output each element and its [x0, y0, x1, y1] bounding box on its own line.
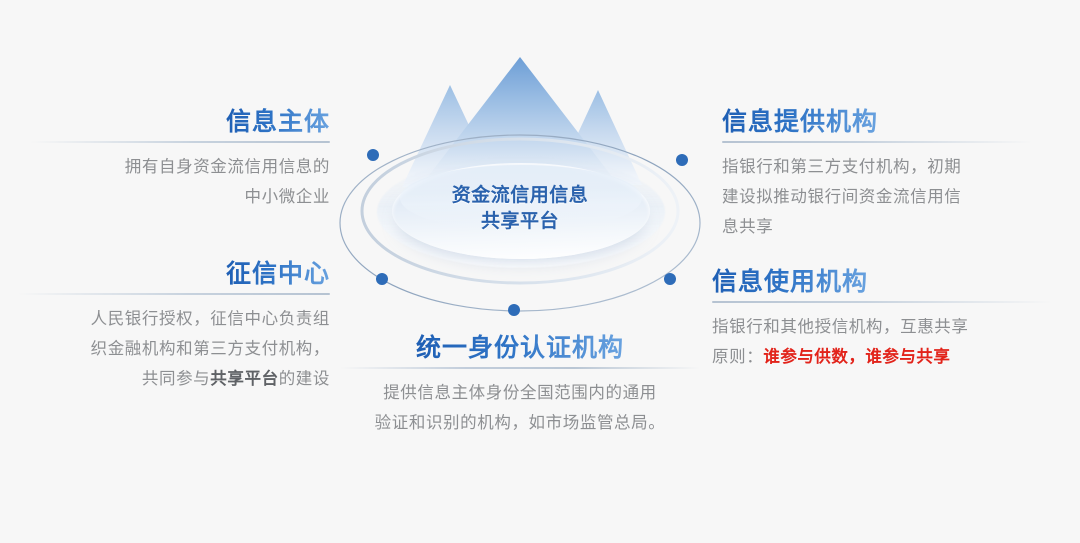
heading-rule	[30, 141, 330, 143]
platform-label-line1: 资金流信用信息	[330, 183, 710, 209]
heading-information-provider: 信息提供机构	[722, 106, 878, 138]
block-information-subject: 信息主体 拥有自身资金流信用信息的 中小微企业	[30, 106, 330, 212]
infographic-canvas: 资金流信用信息 共享平台 信息主体 拥有自身资金流信用信息的 中小微企业 征信中…	[0, 0, 1080, 543]
heading-identity-authentication: 统一身份认证机构	[416, 332, 624, 364]
node-dot	[376, 273, 388, 285]
block-identity-authentication: 统一身份认证机构 提供信息主体身份全国范围内的通用 验证和识别的机构，如市场监管…	[340, 332, 700, 438]
node-dot	[676, 154, 688, 166]
body-line-accent: 谁参与供数，谁参与共享	[763, 347, 950, 366]
body-line: 拥有自身资金流信用信息的	[30, 152, 330, 182]
body-line-emphasis: 共享平台	[210, 369, 278, 388]
block-information-provider: 信息提供机构 指银行和第三方支付机构，初期 建设拟推动银行间资金流信用信 息共享	[722, 106, 1032, 242]
body-information-subject: 拥有自身资金流信用信息的 中小微企业	[30, 152, 330, 212]
body-line: 指银行和其他授信机构，互惠共享	[712, 312, 1052, 342]
body-line: 共同参与共享平台的建设	[18, 364, 330, 394]
body-credit-reference-center: 人民银行授权，征信中心负责组 织金融机构和第三方支付机构， 共同参与共享平台的建…	[18, 304, 330, 394]
heading-rule	[712, 301, 1052, 303]
block-credit-reference-center: 征信中心 人民银行授权，征信中心负责组 织金融机构和第三方支付机构， 共同参与共…	[18, 258, 330, 394]
heading-information-subject: 信息主体	[226, 106, 330, 138]
platform-label: 资金流信用信息 共享平台	[330, 183, 710, 235]
center-graphic: 资金流信用信息 共享平台	[330, 35, 710, 335]
node-dot	[508, 304, 520, 316]
block-information-user: 信息使用机构 指银行和其他授信机构，互惠共享 原则：谁参与供数，谁参与共享	[712, 266, 1052, 372]
body-line: 指银行和第三方支付机构，初期	[722, 152, 1032, 182]
heading-rule	[722, 141, 1032, 143]
heading-credit-reference-center: 征信中心	[226, 258, 330, 290]
platform-label-line2: 共享平台	[330, 209, 710, 235]
body-line: 提供信息主体身份全国范围内的通用	[340, 378, 700, 408]
body-line-prefix: 共同参与	[142, 369, 210, 388]
body-line: 中小微企业	[30, 182, 330, 212]
node-dot	[664, 273, 676, 285]
body-line: 息共享	[722, 212, 1032, 242]
body-line: 人民银行授权，征信中心负责组	[18, 304, 330, 334]
body-line-prefix: 原则：	[712, 347, 763, 366]
body-information-provider: 指银行和第三方支付机构，初期 建设拟推动银行间资金流信用信 息共享	[722, 152, 1032, 242]
body-line: 建设拟推动银行间资金流信用信	[722, 182, 1032, 212]
heading-rule	[340, 367, 700, 369]
body-line: 织金融机构和第三方支付机构，	[18, 334, 330, 364]
heading-information-user: 信息使用机构	[712, 266, 868, 298]
node-dot	[367, 149, 379, 161]
heading-rule	[18, 293, 330, 295]
body-information-user: 指银行和其他授信机构，互惠共享 原则：谁参与供数，谁参与共享	[712, 312, 1052, 372]
body-identity-authentication: 提供信息主体身份全国范围内的通用 验证和识别的机构，如市场监管总局。	[340, 378, 700, 438]
body-line: 原则：谁参与供数，谁参与共享	[712, 342, 1052, 372]
body-line: 验证和识别的机构，如市场监管总局。	[340, 408, 700, 438]
body-line-suffix: 的建设	[279, 369, 330, 388]
